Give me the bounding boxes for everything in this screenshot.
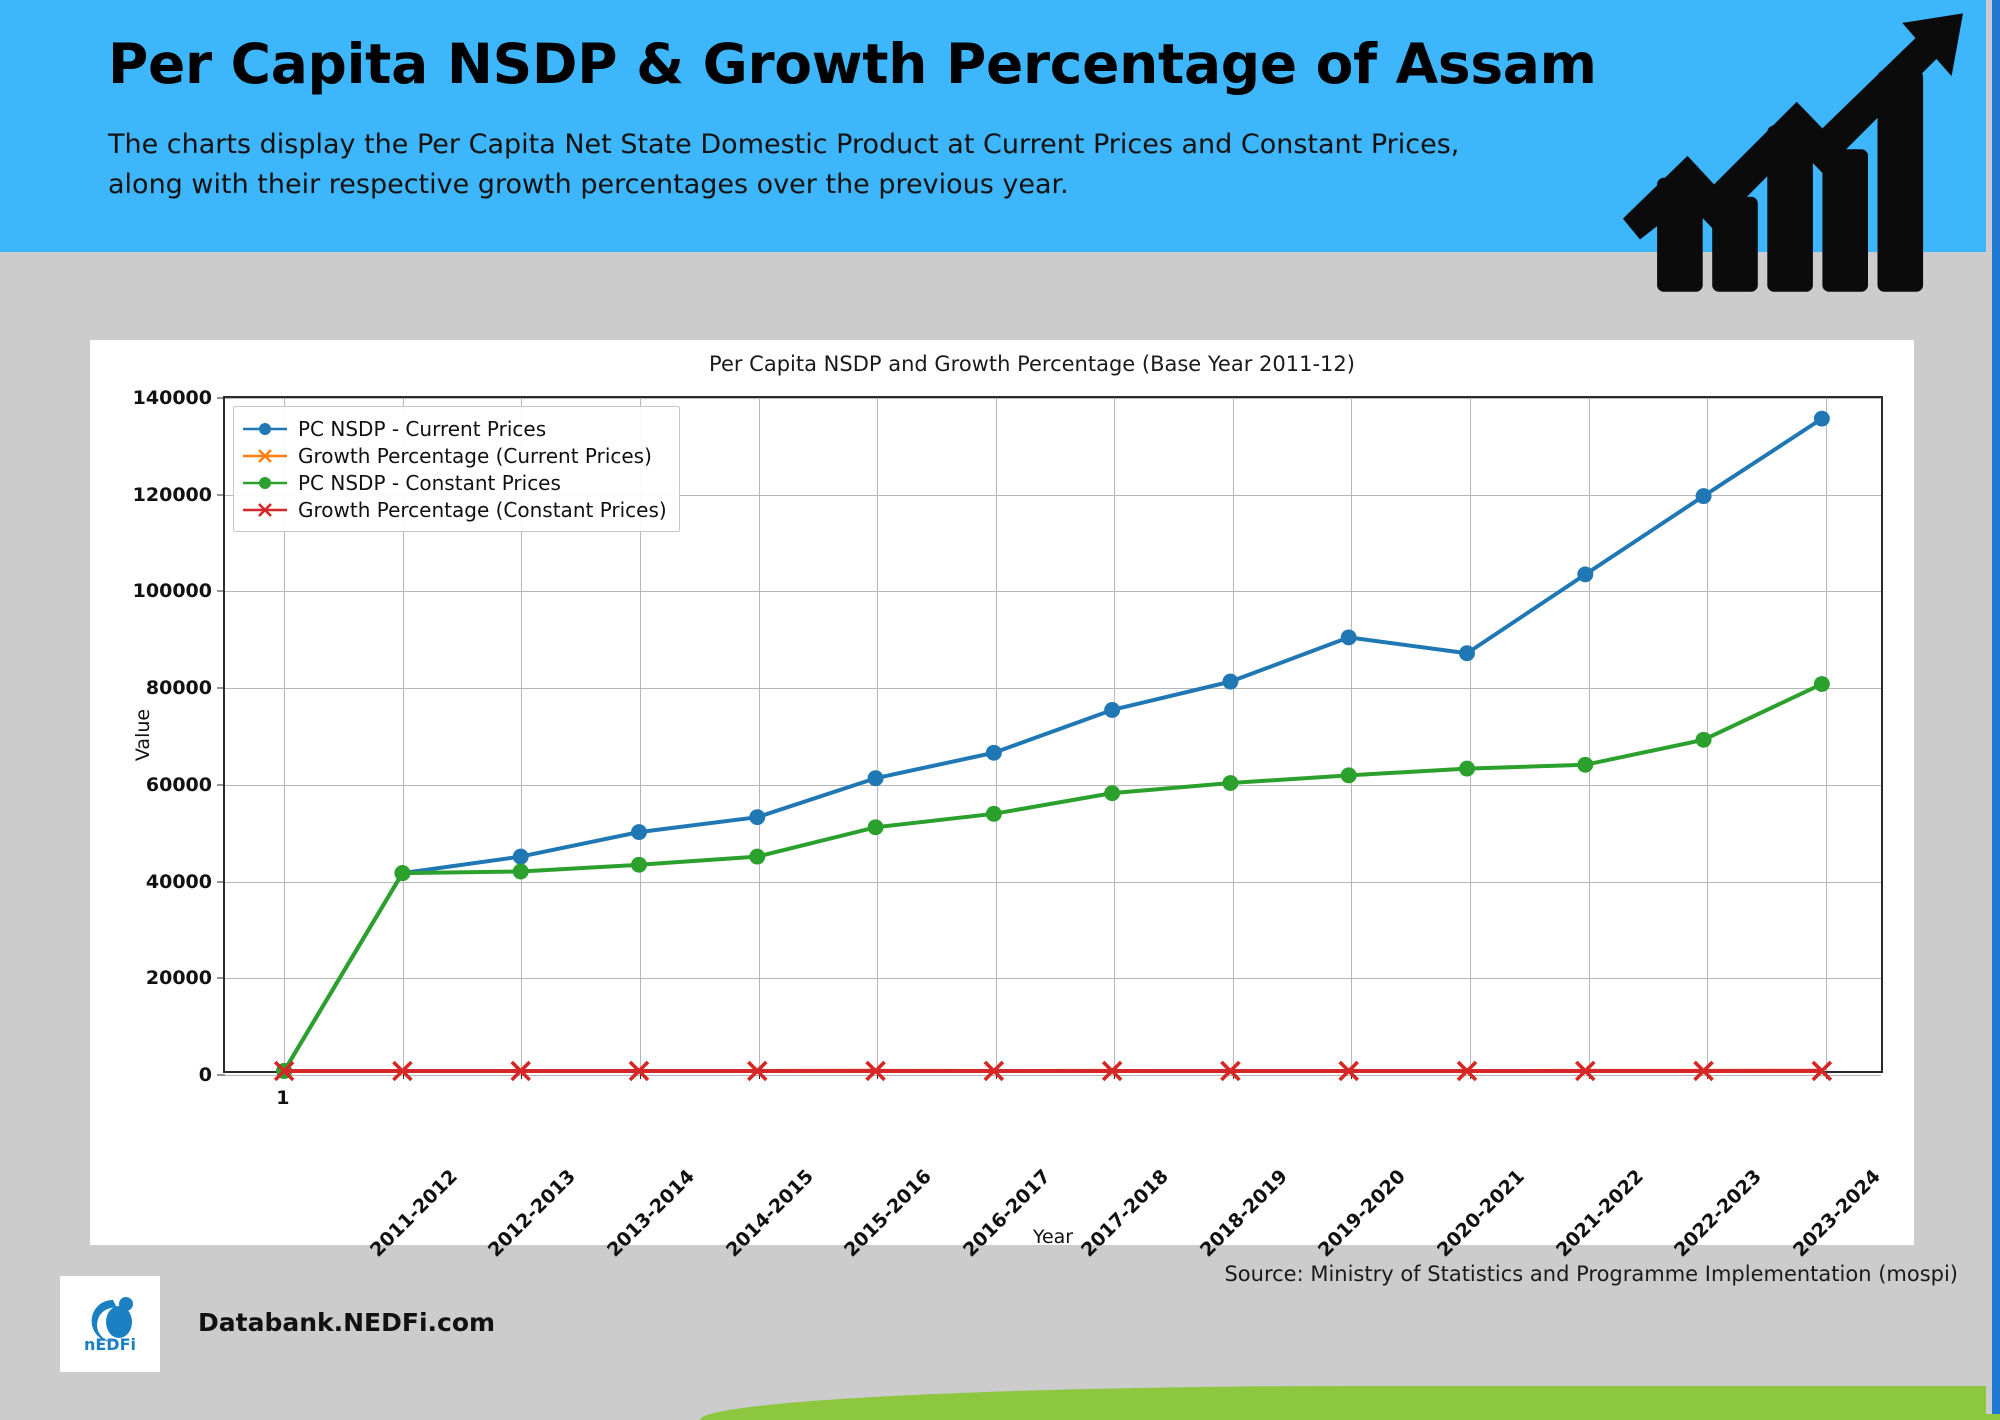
legend-item[interactable]: PC NSDP - Constant Prices: [242, 469, 667, 496]
nedfi-logo: nEDFi: [60, 1276, 160, 1372]
legend-cross-icon: [242, 500, 288, 520]
y-tick-mark: [217, 494, 225, 495]
data-point-marker: [631, 824, 647, 840]
y-tick-label: 120000: [133, 484, 212, 506]
x-tick-label: 2014-2015: [721, 1165, 817, 1261]
footer-site-name: Databank.NEDFi.com: [198, 1308, 495, 1337]
y-axis-label: Value: [132, 708, 154, 760]
legend-item[interactable]: PC NSDP - Current Prices: [242, 415, 667, 442]
chart-card: Per Capita NSDP and Growth Percentage (B…: [90, 340, 1914, 1245]
svg-text:nEDFi: nEDFi: [84, 1335, 136, 1353]
data-point-marker: [1459, 645, 1475, 661]
y-tick-label: 100000: [133, 580, 212, 602]
data-point-marker: [1104, 785, 1120, 801]
data-point-marker: [986, 745, 1002, 761]
y-tick-mark: [217, 881, 225, 882]
y-tick-label: 60000: [146, 774, 212, 796]
legend-label: Growth Percentage (Current Prices): [298, 444, 652, 468]
bottom-green-accent: [700, 1386, 2000, 1420]
data-point-marker: [1341, 629, 1357, 645]
nedfi-mark-icon: nEDFi: [79, 1295, 141, 1353]
chart-title: Per Capita NSDP and Growth Percentage (B…: [90, 352, 1914, 376]
legend-label: PC NSDP - Current Prices: [298, 417, 546, 441]
y-tick-mark: [217, 978, 225, 979]
data-point-marker: [1222, 674, 1238, 690]
y-tick-label: 40000: [146, 871, 212, 893]
legend-label: PC NSDP - Constant Prices: [298, 471, 561, 495]
data-point-marker: [1696, 732, 1712, 748]
page-title: Per Capita NSDP & Growth Percentage of A…: [108, 32, 1597, 96]
growth-arrow-bars-icon: [1602, 0, 1982, 314]
y-tick-label: 140000: [133, 387, 212, 409]
data-point-marker: [749, 809, 765, 825]
x-tick-label: 2018-2019: [1196, 1165, 1292, 1261]
data-point-marker: [1577, 566, 1593, 582]
y-tick-label: 80000: [146, 677, 212, 699]
plot-area: Value Year 02000040000600008000010000012…: [223, 396, 1883, 1073]
y-tick-mark: [217, 591, 225, 592]
legend-circle-icon: [242, 419, 288, 439]
series-line: [284, 684, 1822, 1071]
x-tick-label: 2019-2020: [1314, 1165, 1410, 1261]
x-tick-label: 2023-2024: [1789, 1165, 1885, 1261]
data-point-marker: [513, 864, 529, 880]
legend-item[interactable]: Growth Percentage (Constant Prices): [242, 496, 667, 523]
page-subtitle: The charts display the Per Capita Net St…: [108, 125, 1508, 204]
x-tick-label: 2011-2012: [366, 1165, 462, 1261]
x-tick-label: 2022-2023: [1670, 1165, 1766, 1261]
legend-circle-icon: [242, 473, 288, 493]
gridline-horizontal: [225, 1075, 1881, 1076]
source-note: Source: Ministry of Statistics and Progr…: [1224, 1262, 1958, 1286]
y-tick-label: 20000: [146, 967, 212, 989]
chart-legend: PC NSDP - Current Prices Growth Percenta…: [233, 406, 680, 532]
data-point-marker: [1459, 761, 1475, 777]
data-point-marker: [749, 849, 765, 865]
data-point-marker: [868, 770, 884, 786]
data-point-marker: [1104, 702, 1120, 718]
legend-cross-icon: [242, 446, 288, 466]
x-tick-label: 2020-2021: [1433, 1165, 1529, 1261]
data-point-marker: [1814, 676, 1830, 692]
data-point-marker: [986, 806, 1002, 822]
data-point-marker: [513, 849, 529, 865]
y-tick-mark: [217, 688, 225, 689]
x-tick-label: 2015-2016: [840, 1165, 936, 1261]
data-point-marker: [394, 865, 410, 881]
data-point-marker: [1341, 767, 1357, 783]
data-point-marker: [631, 857, 647, 873]
data-point-marker: [1696, 488, 1712, 504]
x-tick-label: 2021-2022: [1551, 1165, 1647, 1261]
y-tick-label: 0: [199, 1064, 212, 1086]
x-tick-label: 1: [276, 1087, 289, 1109]
x-tick-label: 2017-2018: [1077, 1165, 1173, 1261]
legend-item[interactable]: Growth Percentage (Current Prices): [242, 442, 667, 469]
data-point-marker: [1577, 757, 1593, 773]
right-edge-blue-strip: [1992, 0, 2000, 1414]
data-point-marker: [868, 819, 884, 835]
y-tick-mark: [217, 398, 225, 399]
x-tick-label: 2012-2013: [484, 1165, 580, 1261]
y-tick-mark: [217, 784, 225, 785]
y-tick-mark: [217, 1075, 225, 1076]
x-axis-label: Year: [1033, 1226, 1073, 1248]
data-point-marker: [1222, 775, 1238, 791]
legend-label: Growth Percentage (Constant Prices): [298, 498, 667, 522]
data-point-marker: [1814, 411, 1830, 427]
x-tick-label: 2013-2014: [603, 1165, 699, 1261]
